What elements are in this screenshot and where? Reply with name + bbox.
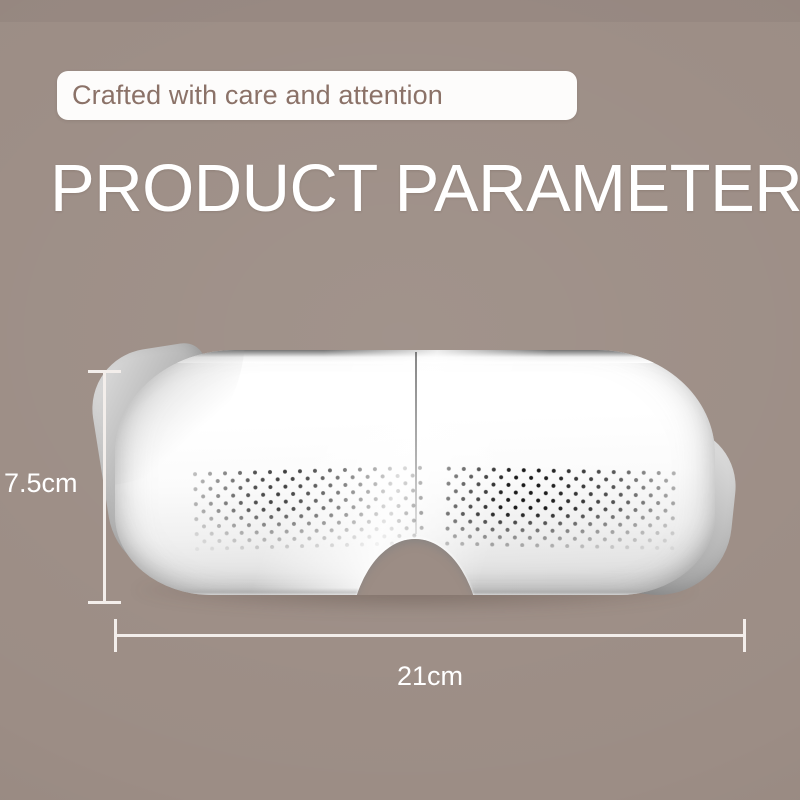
product-left-shading xyxy=(115,350,245,486)
perforation-grid-right xyxy=(444,466,678,551)
height-dimension-cap-top xyxy=(88,370,121,373)
height-dimension-line xyxy=(103,370,106,604)
product-nose-bridge-notch xyxy=(349,539,481,595)
product-parameters-banner: Crafted with care and attention PRODUCT … xyxy=(0,0,800,800)
tagline-badge: Crafted with care and attention xyxy=(57,71,577,120)
width-dimension-label: 21cm xyxy=(0,663,800,690)
width-dimension-cap-right xyxy=(743,619,746,652)
product-image xyxy=(95,330,735,630)
height-dimension-cap-bottom xyxy=(88,601,121,604)
perforation-grid-left xyxy=(192,465,426,551)
page-title: PRODUCT PARAMETERS xyxy=(50,155,790,222)
width-dimension-cap-left xyxy=(114,619,117,652)
tagline-text: Crafted with care and attention xyxy=(72,82,443,109)
background-top-band xyxy=(0,0,800,22)
height-dimension-label: 7.5cm xyxy=(4,470,96,497)
product-body xyxy=(115,350,715,595)
product-center-seam xyxy=(415,352,417,534)
width-dimension-line xyxy=(114,634,746,637)
